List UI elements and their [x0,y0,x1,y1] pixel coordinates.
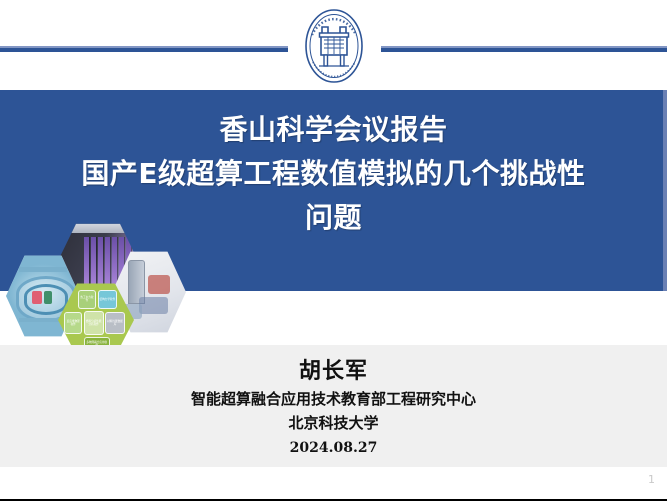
reactor-top-plate [19,267,66,271]
puzzle-piece-structural-mechanics: 结构力学软件 [98,290,118,310]
header-divider-right-thick [381,48,667,52]
hexagon-image-collage: 热工水力软件 结构力学软件 反应堆物理软件 燃料分析性能分析软件 材料性能数据库… [2,222,188,344]
university-seal-icon [295,6,373,86]
slide-footer: 1 [0,467,667,501]
puzzle-piece-reactor-physics: 反应堆物理软件 [64,312,82,333]
presentation-slide: 香山科学会议报告 国产E级超算工程数值模拟的几个挑战性 问题 [0,0,667,501]
ustb-logo [295,6,373,86]
puzzle-piece-material-database: 材料性能数据库 [105,312,125,333]
title-line-1: 香山科学会议报告 [0,108,667,152]
title-line-2: 国产E级超算工程数值模拟的几个挑战性 [0,152,667,196]
ceiling-band [54,222,142,233]
presenter-university: 北京科技大学 [0,411,667,435]
header-divider-left [0,46,288,52]
presentation-date: 2024.08.27 [0,437,667,459]
header-divider-left-thick [0,48,288,52]
puzzle-piece-fuel-performance: 燃料分析性能分析软件 [84,311,104,335]
reactor-core-cool [44,291,51,304]
presenter-panel: 胡长军 智能超算融合应用技术教育部工程研究中心 北京科技大学 2024.08.2… [0,345,667,467]
plant-module-blue [139,297,169,314]
plant-module-red [148,275,170,293]
page-number: 1 [648,473,655,486]
slide-header [0,0,667,90]
puzzle-piece-thermal-hydraulics: 热工水力软件 [78,290,96,310]
presenter-name: 胡长军 [0,357,667,387]
header-divider-right [381,46,667,52]
presenter-organization: 智能超算融合应用技术教育部工程研究中心 [0,387,667,411]
reactor-core-hot [32,291,42,304]
slide-title: 香山科学会议报告 国产E级超算工程数值模拟的几个挑战性 问题 [0,108,667,240]
